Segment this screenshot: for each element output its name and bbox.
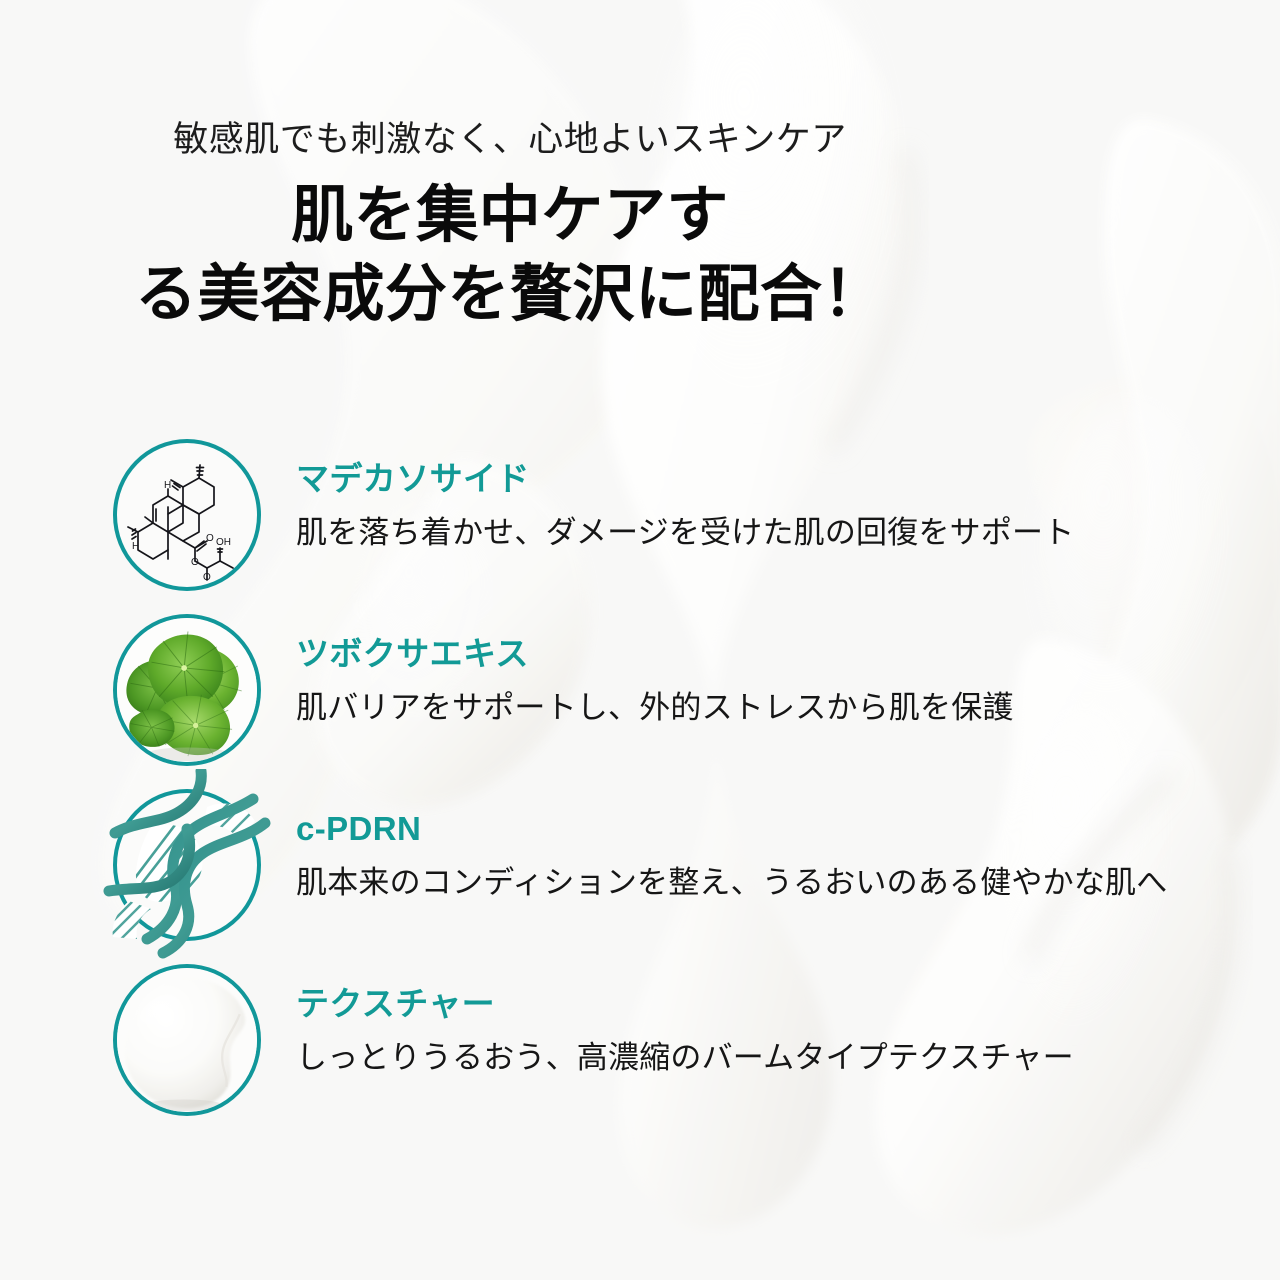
feature-item-madecassoside: H O OH O O H マデカソサイド 肌を落ち着かせ、ダメージを受けた肌の回… bbox=[0, 437, 1280, 612]
feature-title: テクスチャー bbox=[296, 984, 1074, 1024]
feature-title: ツボクサエキス bbox=[296, 634, 1014, 674]
infographic-page: 敏感肌でも刺激なく、心地よいスキンケア 肌を集中ケアす る美容成分を贅沢に配合！ bbox=[0, 0, 1280, 1280]
atom-label-h2: H bbox=[132, 541, 139, 552]
atom-label-h: H bbox=[164, 480, 171, 491]
feature-text-cpdrn: c-PDRN 肌本来のコンディションを整え、うるおいのある健やかな肌へ bbox=[296, 787, 1167, 903]
feature-description: 肌を落ち着かせ、ダメージを受けた肌の回復をサポート bbox=[296, 513, 1074, 553]
feature-text-centella: ツボクサエキス 肌バリアをサポートし、外的ストレスから肌を保護 bbox=[296, 612, 1014, 728]
headline-block: 敏感肌でも刺激なく、心地よいスキンケア 肌を集中ケアす る美容成分を贅沢に配合！ bbox=[0, 118, 1020, 334]
centella-leaf-icon bbox=[113, 614, 261, 766]
headline-line-2: る美容成分を贅沢に配合！ bbox=[0, 255, 1020, 334]
feature-text-texture: テクスチャー しっとりうるおう、高濃縮のバームタイプテクスチャー bbox=[296, 962, 1074, 1078]
feature-item-cpdrn: c-PDRN 肌本来のコンディションを整え、うるおいのある健やかな肌へ bbox=[0, 787, 1280, 962]
cream-droplet-icon bbox=[113, 964, 261, 1116]
eyebrow-text: 敏感肌でも刺激なく、心地よいスキンケア bbox=[0, 118, 1020, 162]
atom-label-o3: O bbox=[203, 572, 211, 581]
feature-description: しっとりうるおう、高濃縮のバームタイプテクスチャー bbox=[296, 1038, 1074, 1078]
feature-item-texture: テクスチャー しっとりうるおう、高濃縮のバームタイプテクスチャー bbox=[0, 962, 1280, 1137]
feature-description: 肌本来のコンディションを整え、うるおいのある健やかな肌へ bbox=[296, 863, 1167, 903]
feature-text-madecassoside: マデカソサイド 肌を落ち着かせ、ダメージを受けた肌の回復をサポート bbox=[296, 437, 1074, 553]
feature-item-centella: ツボクサエキス 肌バリアをサポートし、外的ストレスから肌を保護 bbox=[0, 612, 1280, 787]
atom-label-oh: OH bbox=[216, 537, 231, 548]
dna-helix-icon bbox=[113, 789, 261, 941]
atom-label-o1: O bbox=[206, 533, 214, 544]
feature-description: 肌バリアをサポートし、外的ストレスから肌を保護 bbox=[296, 688, 1014, 728]
feature-list: H O OH O O H マデカソサイド 肌を落ち着かせ、ダメージを受けた肌の回… bbox=[0, 437, 1280, 1137]
feature-title: マデカソサイド bbox=[296, 459, 1074, 499]
atom-label-o2: O bbox=[191, 557, 199, 568]
headline-line-1: 肌を集中ケアす bbox=[0, 176, 1020, 255]
madecassoside-molecule-icon: H O OH O O H bbox=[113, 439, 261, 591]
page-title: 肌を集中ケアす る美容成分を贅沢に配合！ bbox=[0, 176, 1020, 335]
feature-title: c-PDRN bbox=[296, 809, 1167, 849]
